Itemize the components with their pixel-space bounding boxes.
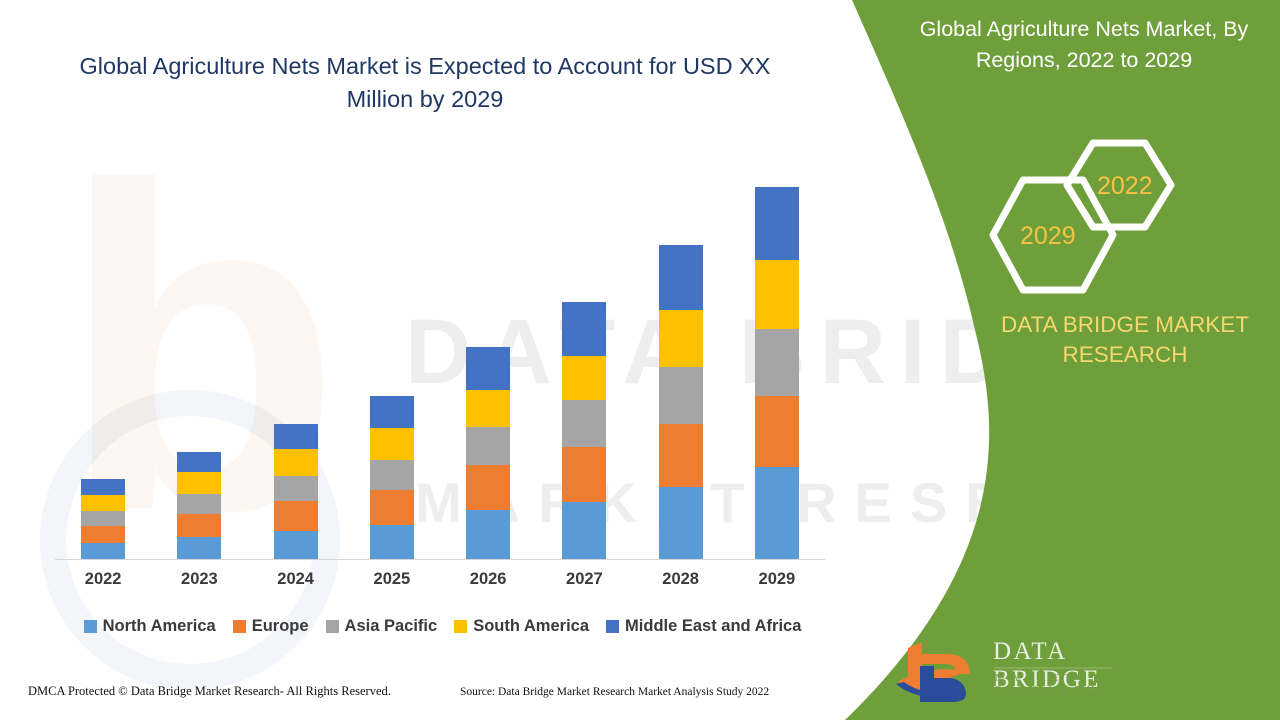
bar-segment: [755, 329, 799, 397]
bar-segment: [81, 511, 125, 526]
legend-item[interactable]: North America: [84, 617, 216, 636]
legend-swatch-icon: [454, 620, 467, 633]
legend-label: North America: [103, 617, 216, 636]
legend-swatch-icon: [233, 620, 246, 633]
bar-segment: [466, 510, 510, 559]
bar-segment: [370, 428, 414, 460]
bar-segment: [370, 460, 414, 490]
bar-column: [466, 347, 510, 559]
bar-segment: [562, 400, 606, 447]
data-bridge-logo: DATA BRIDGE MARKET RESEARCH: [890, 632, 1120, 704]
x-axis-label: 2028: [659, 570, 703, 589]
bar-segment: [81, 526, 125, 543]
legend-label: Middle East and Africa: [625, 617, 801, 636]
bar-segment: [81, 495, 125, 511]
chart-title: Global Agriculture Nets Market is Expect…: [60, 50, 790, 117]
bar-segment: [274, 531, 318, 559]
bar-segment: [562, 447, 606, 502]
bar-segment: [659, 310, 703, 367]
bar-segment: [370, 490, 414, 525]
x-axis-label: 2022: [81, 570, 125, 589]
x-axis-label: 2025: [370, 570, 414, 589]
bar-column: [755, 187, 799, 559]
bar-group: [55, 160, 825, 559]
legend-label: South America: [473, 617, 589, 636]
bar-segment: [659, 487, 703, 559]
legend-swatch-icon: [84, 620, 97, 633]
bar-segment: [274, 424, 318, 449]
bar-segment: [370, 396, 414, 428]
bar-segment: [466, 347, 510, 391]
hexagon-badges: [985, 135, 1195, 300]
infographic-root: b DATA BRIDGE MARKET RESEARCH Global Agr…: [0, 0, 1280, 720]
bar-segment: [466, 427, 510, 465]
bar-segment: [755, 467, 799, 559]
bar-segment: [755, 396, 799, 467]
bar-column: [81, 479, 125, 559]
x-axis-label: 2023: [177, 570, 221, 589]
logo-name-secondary: MARKET RESEARCH: [995, 672, 1120, 696]
bar-segment: [562, 502, 606, 559]
bar-segment: [755, 260, 799, 329]
x-axis-label: 2029: [755, 570, 799, 589]
bar-segment: [81, 543, 125, 559]
bar-segment: [177, 494, 221, 514]
x-axis-line: [55, 559, 825, 560]
legend-label: Europe: [252, 617, 309, 636]
panel-title: Global Agriculture Nets Market, By Regio…: [900, 14, 1268, 76]
bar-segment: [81, 479, 125, 495]
legend-swatch-icon: [326, 620, 339, 633]
bar-column: [659, 245, 703, 559]
x-axis-label: 2024: [274, 570, 318, 589]
bar-segment: [177, 472, 221, 494]
x-axis-label: 2027: [562, 570, 606, 589]
bar-segment: [274, 449, 318, 476]
bar-column: [562, 302, 606, 559]
bar-segment: [659, 424, 703, 487]
bar-segment: [659, 245, 703, 310]
bar-segment: [177, 514, 221, 537]
bar-segment: [177, 452, 221, 472]
bar-segment: [274, 501, 318, 531]
footer-source: Source: Data Bridge Market Research Mark…: [460, 686, 769, 698]
bar-segment: [370, 525, 414, 559]
chart-legend: North AmericaEuropeAsia PacificSouth Ame…: [55, 617, 830, 636]
legend-swatch-icon: [606, 620, 619, 633]
bar-segment: [177, 537, 221, 559]
legend-item[interactable]: Asia Pacific: [326, 617, 438, 636]
hexagon-label-2029: 2029: [1020, 222, 1076, 251]
x-axis-label: 2026: [466, 570, 510, 589]
chart-plot-area: [55, 160, 825, 560]
legend-label: Asia Pacific: [345, 617, 438, 636]
bar-segment: [274, 476, 318, 501]
legend-item[interactable]: Middle East and Africa: [606, 617, 801, 636]
bar-segment: [562, 302, 606, 356]
bar-column: [177, 452, 221, 559]
bar-column: [274, 424, 318, 559]
legend-item[interactable]: Europe: [233, 617, 309, 636]
x-axis-labels: 20222023202420252026202720282029: [55, 570, 825, 589]
bar-segment: [659, 367, 703, 425]
bar-segment: [562, 356, 606, 401]
footer-copyright: DMCA Protected © Data Bridge Market Rese…: [28, 684, 391, 699]
bar-segment: [755, 187, 799, 260]
hexagon-label-2022: 2022: [1097, 172, 1153, 201]
bar-column: [370, 396, 414, 559]
panel-brand-text: DATA BRIDGE MARKET RESEARCH: [955, 310, 1280, 371]
bar-segment: [466, 390, 510, 427]
bar-segment: [466, 465, 510, 510]
legend-item[interactable]: South America: [454, 617, 589, 636]
